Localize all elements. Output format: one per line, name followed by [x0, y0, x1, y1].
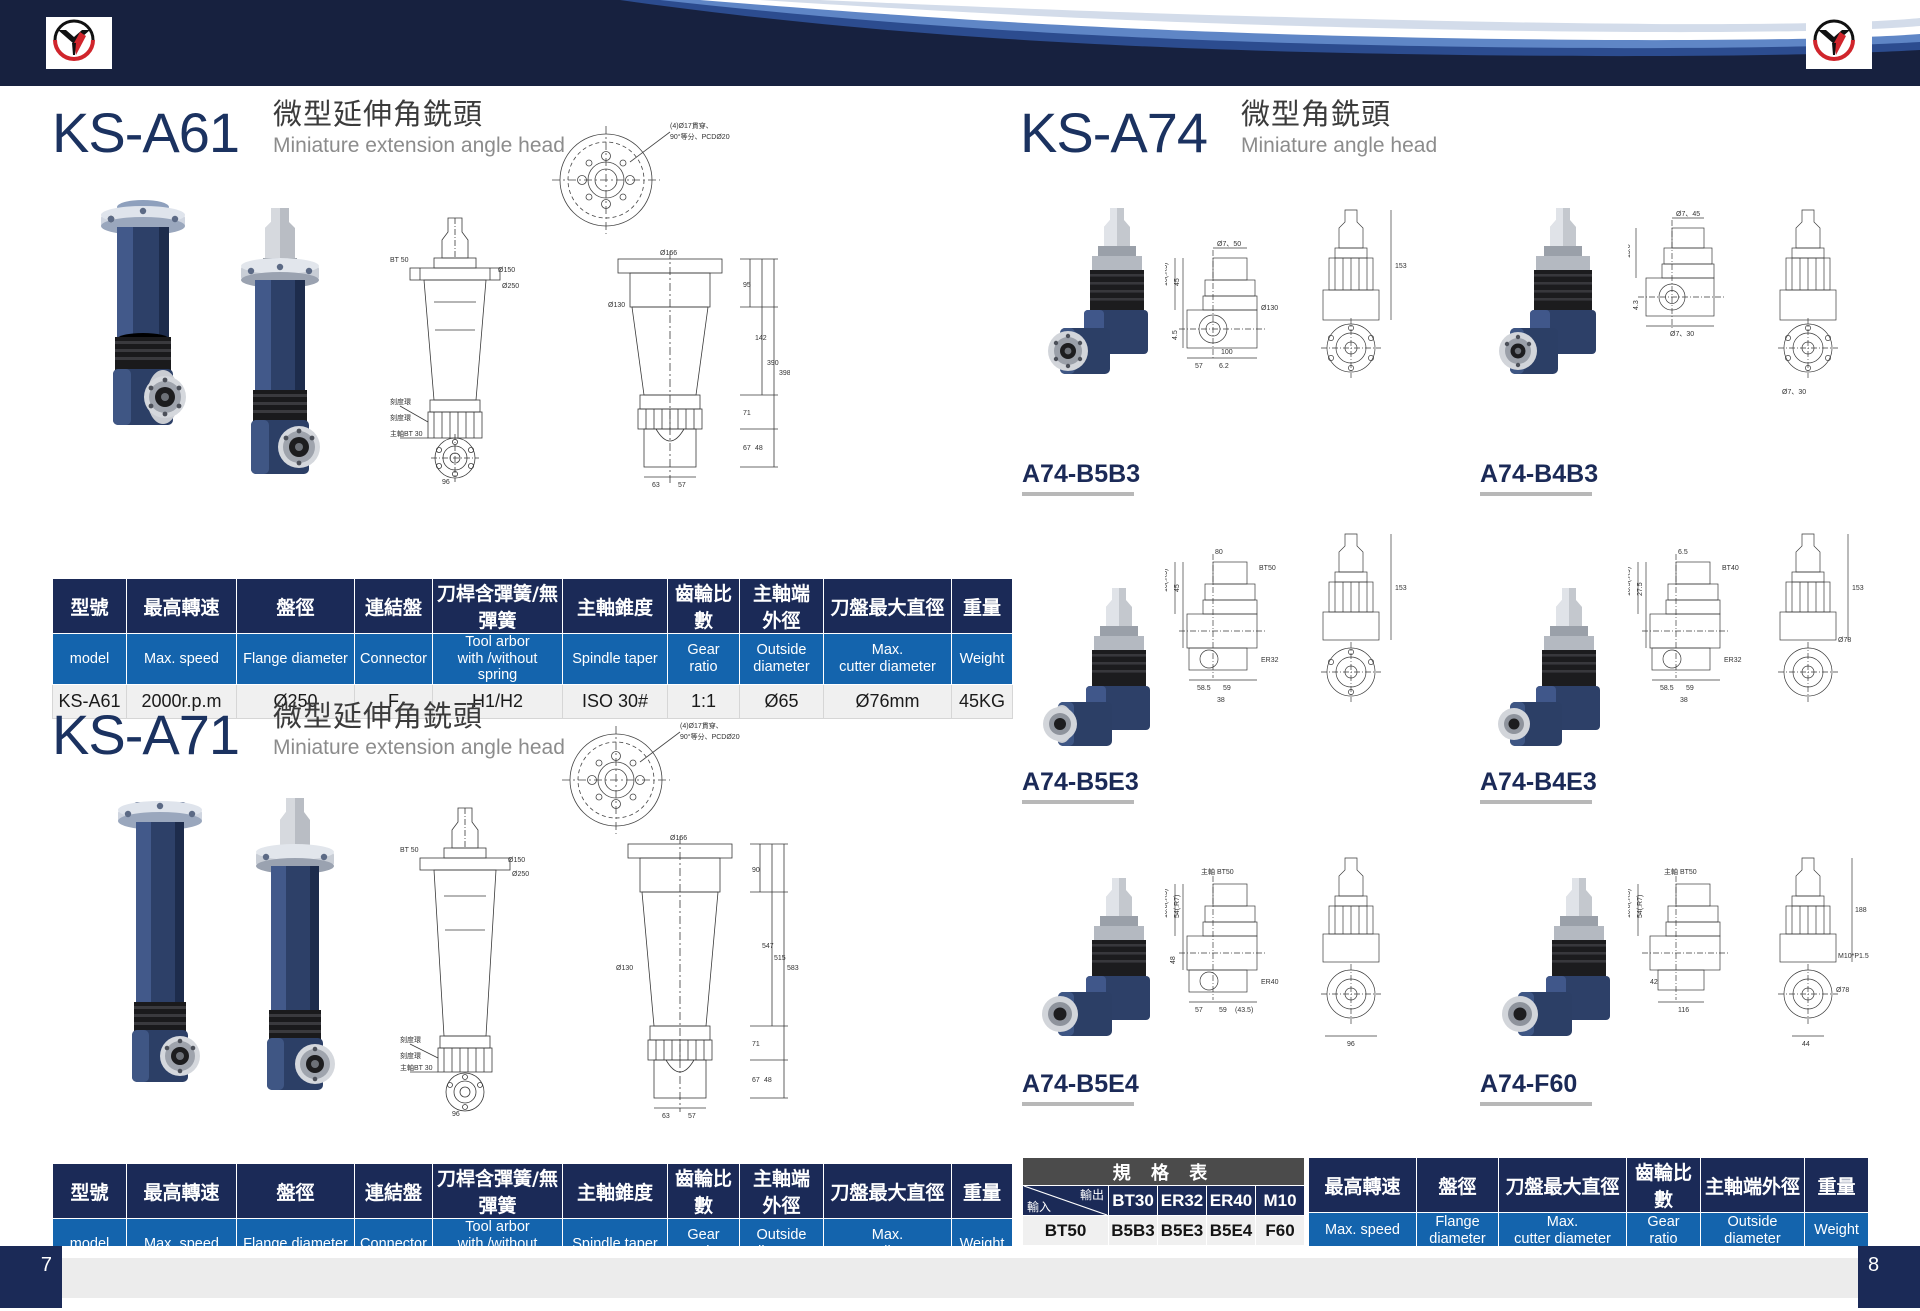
page-number-left: 7 — [0, 1246, 62, 1308]
svg-text:67: 67 — [752, 1077, 760, 1084]
svg-text:38: 38 — [1680, 697, 1688, 704]
svg-text:Ø78: Ø78 — [1836, 987, 1849, 994]
svg-text:515: 515 — [774, 955, 786, 962]
matrix-col-m10: M10 — [1256, 1186, 1305, 1216]
product-name-en: Miniature angle head — [1241, 133, 1437, 158]
th-weight-cn: 重量 — [952, 1164, 1013, 1219]
product-photo-a74-b4b3 — [1490, 200, 1630, 435]
svg-text:116: 116 — [1678, 1007, 1689, 1014]
cad-section-view-a71: BT 50 Ø150 Ø250 刻度環 刻度環 主軸BT 30 96 — [400, 800, 595, 1118]
th-cutter-cn: 刀盤最大直徑 — [824, 579, 952, 634]
th-outside-en: Outside diameter — [1701, 1213, 1805, 1249]
svg-text:M10*P1.5: M10*P1.5 — [1838, 953, 1869, 960]
product-code: KS-A61 — [52, 105, 239, 161]
caption-underline — [1022, 492, 1134, 496]
table-header-en-row: Max. speed Flange diameter Max. cutter d… — [1309, 1213, 1869, 1249]
svg-text:Ø130: Ø130 — [608, 302, 625, 309]
svg-text:71: 71 — [743, 410, 751, 417]
product-heading-ks-a61: KS-A61 微型延伸角銑頭 Miniature extension angle… — [52, 98, 565, 161]
svg-text:Ø150: Ø150 — [508, 857, 525, 864]
svg-text:Ø7、30: Ø7、30 — [1782, 389, 1806, 396]
svg-text:71: 71 — [752, 1041, 760, 1048]
svg-text:(4)Ø17貫穿、: (4)Ø17貫穿、 — [680, 721, 723, 730]
caption-underline — [1480, 492, 1592, 496]
matrix-corner-in: 輸入 — [1027, 1198, 1051, 1215]
svg-text:6.2: 6.2 — [1219, 363, 1229, 370]
svg-text:Ø7、45: Ø7、45 — [1676, 211, 1700, 218]
product-photo-a74-f60 — [1490, 870, 1630, 1075]
svg-text:54(.R7): 54(.R7) — [1637, 895, 1644, 918]
svg-text:16(.R3): 16(.R3) — [1165, 263, 1169, 286]
svg-text:100: 100 — [1221, 349, 1233, 356]
product-name-cn: 微型延伸角銑頭 — [273, 700, 565, 733]
th-model-cn: 型號 — [53, 579, 127, 634]
svg-text:44: 44 — [1802, 1041, 1810, 1048]
svg-text:13.6: 13.6 — [1628, 244, 1632, 258]
th-gear-cn: 齒輪比數 — [1627, 1158, 1701, 1213]
table-header-cn-row: 型號 最高轉速 盤徑 連結盤 刀桿含彈簧/無彈簧 主軸錐度 齒輪比數 主軸端外徑… — [53, 579, 1013, 634]
matrix-col-er40: ER40 — [1207, 1186, 1256, 1216]
th-model-en: model — [53, 634, 127, 685]
svg-text:主軸 BT50: 主軸 BT50 — [1201, 867, 1234, 876]
model-label: A74-B5E3 — [1022, 768, 1139, 797]
cad-dims-a74-b5b3: Ø7、50 16(.R3) 45 4.5 57 6.2 100 Ø130 — [1165, 240, 1295, 425]
th-maxspeed-cn: 最高轉速 — [127, 1164, 237, 1219]
model-label: A74-B5B3 — [1022, 460, 1140, 489]
svg-text:96: 96 — [452, 1111, 460, 1118]
cad-views-a74-b5b3: 153 — [1295, 200, 1415, 415]
product-name-group: 微型角銑頭 Miniature angle head — [1241, 98, 1437, 161]
product-name-group: 微型延伸角銑頭 Miniature extension angle head — [273, 700, 565, 763]
svg-text:96: 96 — [1347, 1041, 1355, 1048]
svg-text:Ø7、50: Ø7、50 — [1217, 241, 1241, 248]
page-footer: 7 8 — [0, 1246, 1920, 1311]
th-taper-cn: 主軸錐度 — [563, 1164, 668, 1219]
svg-text:90°等分、PCDØ200: 90°等分、PCDØ200 — [680, 732, 740, 741]
model-label: A74-B4E3 — [1480, 768, 1597, 797]
product-heading-ks-a74: KS-A74 微型角銑頭 Miniature angle head — [1020, 98, 1437, 161]
banner-swoosh — [0, 0, 1920, 86]
matrix-row-bt50: BT50 B5B3 B5E3 B5E4 F60 — [1023, 1216, 1305, 1246]
svg-text:142: 142 — [755, 335, 767, 342]
svg-text:Ø166: Ø166 — [670, 835, 687, 842]
svg-text:57: 57 — [678, 482, 686, 489]
svg-text:Ø166: Ø166 — [660, 250, 677, 257]
th-cutter-cn: 刀盤最大直徑 — [824, 1164, 952, 1219]
th-connector-en: Connector — [355, 634, 433, 685]
svg-text:38: 38 — [1217, 697, 1225, 704]
svg-text:45: 45 — [1174, 584, 1181, 592]
cad-elevation-view-a71: Ø166 Ø130 90 547 515 583 71 67 48 63 57 — [610, 830, 800, 1120]
matrix-corner-cell: 輸出 輸入 — [1023, 1186, 1109, 1216]
th-connector-cn: 連結盤 — [355, 1164, 433, 1219]
model-label: A74-B4B3 — [1480, 460, 1598, 489]
svg-text:58.5: 58.5 — [1197, 685, 1211, 692]
th-cutter-en: Max. cutter diameter — [1499, 1213, 1627, 1249]
th-maxspeed-cn: 最高轉速 — [1309, 1158, 1417, 1213]
model-caption-a74-b4b3: A74-B4B3 — [1480, 460, 1598, 496]
product-code: KS-A71 — [52, 707, 239, 763]
ks-logo-icon — [46, 17, 102, 63]
th-outside-cn: 主軸端外徑 — [740, 579, 824, 634]
th-taper-cn: 主軸錐度 — [563, 579, 668, 634]
cad-dims-a74-b5e4: 主軸 BT50 16.8(.R3) 54(.R7) ER40 48 57 59 … — [1165, 860, 1295, 1050]
model-label: A74-B5E4 — [1022, 1070, 1139, 1099]
cell-cutter: Ø76mm — [824, 685, 952, 719]
th-weight-cn: 重量 — [952, 579, 1013, 634]
svg-text:63: 63 — [652, 482, 660, 489]
cad-dims-a74-b4b3: Ø7、45 13.6 4.3 Ø7、30 — [1628, 210, 1748, 390]
matrix-title: 規 格 表 — [1023, 1158, 1305, 1186]
caption-underline — [1022, 1102, 1134, 1106]
svg-text:57: 57 — [688, 1113, 696, 1120]
caption-underline — [1022, 800, 1134, 804]
table-header-cn-row: 最高轉速 盤徑 刀盤最大直徑 齒輪比數 主軸端外徑 重量 — [1309, 1158, 1869, 1213]
svg-text:Ø250: Ø250 — [512, 871, 529, 878]
svg-text:(43.5): (43.5) — [1235, 1007, 1253, 1014]
svg-text:4.3: 4.3 — [1633, 300, 1640, 310]
svg-text:95: 95 — [743, 282, 751, 289]
cad-views-a74-b4b3: Ø7、30 — [1752, 200, 1872, 415]
brand-logo-left — [46, 17, 112, 69]
th-outside-cn: 主軸端外徑 — [740, 1164, 824, 1219]
svg-text:刻度環: 刻度環 — [400, 1035, 421, 1044]
product-heading-ks-a71: KS-A71 微型延伸角銑頭 Miniature extension angle… — [52, 700, 565, 763]
svg-text:188: 188 — [1855, 907, 1867, 914]
cad-views-a74-b5e3: 153 — [1295, 520, 1415, 735]
product-name-cn: 微型角銑頭 — [1241, 98, 1437, 131]
matrix-row-label: BT50 — [1023, 1216, 1109, 1246]
matrix-cell: F60 — [1256, 1216, 1305, 1246]
svg-text:80: 80 — [1215, 549, 1223, 556]
brand-logo-right — [1806, 17, 1872, 69]
cad-section-view-a61: BT 50 Ø150 Ø250 刻度環 主軸BT 30 刻度環 96 — [390, 210, 575, 485]
svg-text:48: 48 — [755, 445, 763, 452]
th-cutter-cn: 刀盤最大直徑 — [1499, 1158, 1627, 1213]
product-photo-a71-side — [200, 790, 400, 1135]
matrix-corner-out: 輸出 — [1080, 1186, 1104, 1203]
cad-views-a74-f60: 188 Ø78 M10*P1.5 44 — [1752, 840, 1882, 1055]
cad-dims-a74-b4e3: 6.5 16.5(.R9) 27.5 BT40 ER32 58.5 59 38 — [1628, 540, 1758, 740]
svg-text:57: 57 — [1195, 1007, 1203, 1014]
model-label: A74-F60 — [1480, 1070, 1592, 1099]
top-banner — [0, 0, 1920, 86]
svg-text:153: 153 — [1395, 263, 1407, 270]
svg-text:16.8(.R3): 16.8(.R3) — [1628, 889, 1632, 918]
svg-text:54(.R7): 54(.R7) — [1174, 895, 1181, 918]
svg-text:398: 398 — [779, 370, 790, 377]
table-header-en-row: model Max. speed Flange diameter Connect… — [53, 634, 1013, 685]
svg-text:45: 45 — [1174, 278, 1181, 286]
cad-views-a74-b4e3: 153 Ø78 — [1752, 520, 1872, 735]
th-weight-en: Weight — [1805, 1213, 1869, 1249]
svg-text:Ø130: Ø130 — [1261, 305, 1278, 312]
svg-text:16.5(.R9): 16.5(.R9) — [1628, 567, 1632, 596]
svg-text:96: 96 — [442, 479, 450, 485]
product-name-en: Miniature extension angle head — [273, 735, 565, 760]
cell-gear: 1:1 — [668, 685, 740, 719]
svg-text:BT40: BT40 — [1722, 565, 1739, 572]
cad-dims-a74-b5e3: 80 16(.R3) 45 BT50 ER32 58.5 59 38 — [1165, 540, 1295, 740]
svg-text:BT 50: BT 50 — [390, 257, 409, 264]
table-header-cn-row: 型號 最高轉速 盤徑 連結盤 刀桿含彈簧/無彈簧 主軸錐度 齒輪比數 主軸端外徑… — [53, 1164, 1013, 1219]
th-maxspeed-en: Max. speed — [1309, 1213, 1417, 1249]
model-caption-a74-b5b3: A74-B5B3 — [1022, 460, 1140, 496]
svg-text:刻度環: 刻度環 — [400, 1051, 421, 1060]
th-weight-en: Weight — [952, 634, 1013, 685]
product-photo-a61-side — [185, 200, 385, 535]
cad-dims-a74-f60: 主軸 BT50 16.8(.R3) 54(.R7) 42 116 — [1628, 860, 1758, 1050]
svg-text:48: 48 — [764, 1077, 772, 1084]
matrix-col-bt30: BT30 — [1109, 1186, 1158, 1216]
svg-text:59: 59 — [1219, 1007, 1227, 1014]
cell-weight: 45KG — [952, 685, 1013, 719]
svg-text:57: 57 — [1195, 363, 1203, 370]
svg-text:90°等分、PCDØ200: 90°等分、PCDØ200 — [670, 132, 730, 141]
th-flange-en: Flange diameter — [237, 634, 355, 685]
product-photo-a74-b5e3 — [1030, 580, 1170, 785]
svg-text:16(.R3): 16(.R3) — [1165, 569, 1169, 592]
model-caption-a74-b5e4: A74-B5E4 — [1022, 1070, 1139, 1106]
ks-logo-icon — [1806, 17, 1862, 63]
svg-text:Ø130: Ø130 — [616, 965, 633, 972]
cad-views-a74-b5e4: 96 — [1295, 840, 1415, 1055]
svg-text:16.8(.R3): 16.8(.R3) — [1165, 889, 1169, 918]
svg-text:主軸BT 30: 主軸BT 30 — [400, 1063, 433, 1072]
cell-outside: Ø65 — [740, 685, 824, 719]
model-caption-a74-b5e3: A74-B5E3 — [1022, 768, 1139, 804]
product-code: KS-A74 — [1020, 105, 1207, 161]
svg-text:BT 50: BT 50 — [400, 847, 419, 854]
caption-underline — [1480, 1102, 1592, 1106]
svg-text:27.5: 27.5 — [1637, 582, 1644, 596]
svg-text:Ø150: Ø150 — [498, 267, 515, 274]
th-connector-cn: 連結盤 — [355, 579, 433, 634]
matrix-cell: B5E3 — [1158, 1216, 1207, 1246]
svg-text:59: 59 — [1686, 685, 1694, 692]
th-gear-en: Gear ratio — [668, 634, 740, 685]
model-caption-a74-b4e3: A74-B4E3 — [1480, 768, 1597, 804]
th-outside-cn: 主軸端外徑 — [1701, 1158, 1805, 1213]
svg-text:6.5: 6.5 — [1678, 549, 1688, 556]
svg-text:547: 547 — [762, 943, 774, 950]
svg-text:67: 67 — [743, 445, 751, 452]
svg-text:Ø250: Ø250 — [502, 283, 519, 290]
svg-text:主軸BT 30: 主軸BT 30 — [390, 429, 423, 438]
svg-text:ER32: ER32 — [1261, 657, 1279, 664]
spec-table-ks-a61: 型號 最高轉速 盤徑 連結盤 刀桿含彈簧/無彈簧 主軸錐度 齒輪比數 主軸端外徑… — [52, 578, 1013, 719]
matrix-header-row: 輸出 輸入 BT30 ER32 ER40 M10 — [1023, 1186, 1305, 1216]
matrix-title-row: 規 格 表 — [1023, 1158, 1305, 1186]
th-flange-cn: 盤徑 — [237, 579, 355, 634]
svg-text:Ø7、30: Ø7、30 — [1670, 331, 1694, 338]
matrix-cell: B5B3 — [1109, 1216, 1158, 1246]
cell-taper: ISO 30# — [563, 685, 668, 719]
svg-text:153: 153 — [1852, 585, 1864, 592]
matrix-col-er32: ER32 — [1158, 1186, 1207, 1216]
matrix-cell: B5E4 — [1207, 1216, 1256, 1246]
th-flange-en: Flange diameter — [1417, 1213, 1499, 1249]
svg-text:583: 583 — [787, 965, 799, 972]
svg-text:63: 63 — [662, 1113, 670, 1120]
svg-text:90: 90 — [752, 867, 760, 874]
th-taper-en: Spindle taper — [563, 634, 668, 685]
th-gear-cn: 齒輪比數 — [668, 579, 740, 634]
svg-text:主軸 BT50: 主軸 BT50 — [1664, 867, 1697, 876]
svg-text:ER32: ER32 — [1724, 657, 1742, 664]
product-photo-a74-b5e4 — [1030, 870, 1170, 1075]
th-flange-cn: 盤徑 — [1417, 1158, 1499, 1213]
caption-underline — [1480, 800, 1592, 804]
svg-text:BT50: BT50 — [1259, 565, 1276, 572]
svg-text:4.5: 4.5 — [1172, 330, 1179, 340]
page-number-right: 8 — [1858, 1246, 1920, 1308]
th-cutter-en: Max. cutter diameter — [824, 634, 952, 685]
svg-text:ER40: ER40 — [1261, 979, 1279, 986]
th-gear-cn: 齒輪比數 — [668, 1164, 740, 1219]
product-photo-a74-b4e3 — [1490, 580, 1630, 785]
th-arbor-cn: 刀桿含彈簧/無彈簧 — [433, 1164, 563, 1219]
th-model-cn: 型號 — [53, 1164, 127, 1219]
th-arbor-cn: 刀桿含彈簧/無彈簧 — [433, 579, 563, 634]
svg-text:153: 153 — [1395, 585, 1407, 592]
th-maxspeed-cn: 最高轉速 — [127, 579, 237, 634]
svg-text:390: 390 — [767, 360, 779, 367]
model-caption-a74-f60: A74-F60 — [1480, 1070, 1592, 1106]
svg-text:刻度環: 刻度環 — [390, 397, 411, 406]
svg-text:48: 48 — [1170, 956, 1177, 964]
cad-elevation-view-a61: Ø166 Ø130 95 142 390 398 71 67 48 63 57 — [600, 245, 790, 490]
th-maxspeed-en: Max. speed — [127, 634, 237, 685]
th-arbor-en: Tool arbor with /without spring — [433, 634, 563, 685]
svg-text:58.5: 58.5 — [1660, 685, 1674, 692]
th-weight-cn: 重量 — [1805, 1158, 1869, 1213]
product-photo-a74-b5b3 — [1030, 200, 1170, 435]
th-flange-cn: 盤徑 — [237, 1164, 355, 1219]
svg-text:59: 59 — [1223, 685, 1231, 692]
svg-text:Ø78: Ø78 — [1838, 637, 1851, 644]
th-outside-en: Outside diameter — [740, 634, 824, 685]
footer-bar — [62, 1258, 1858, 1298]
svg-text:(4)Ø17貫穿、: (4)Ø17貫穿、 — [670, 121, 713, 130]
svg-text:刻度環: 刻度環 — [390, 413, 411, 422]
svg-text:42: 42 — [1650, 979, 1658, 986]
th-gear-en: Gear ratio — [1627, 1213, 1701, 1249]
